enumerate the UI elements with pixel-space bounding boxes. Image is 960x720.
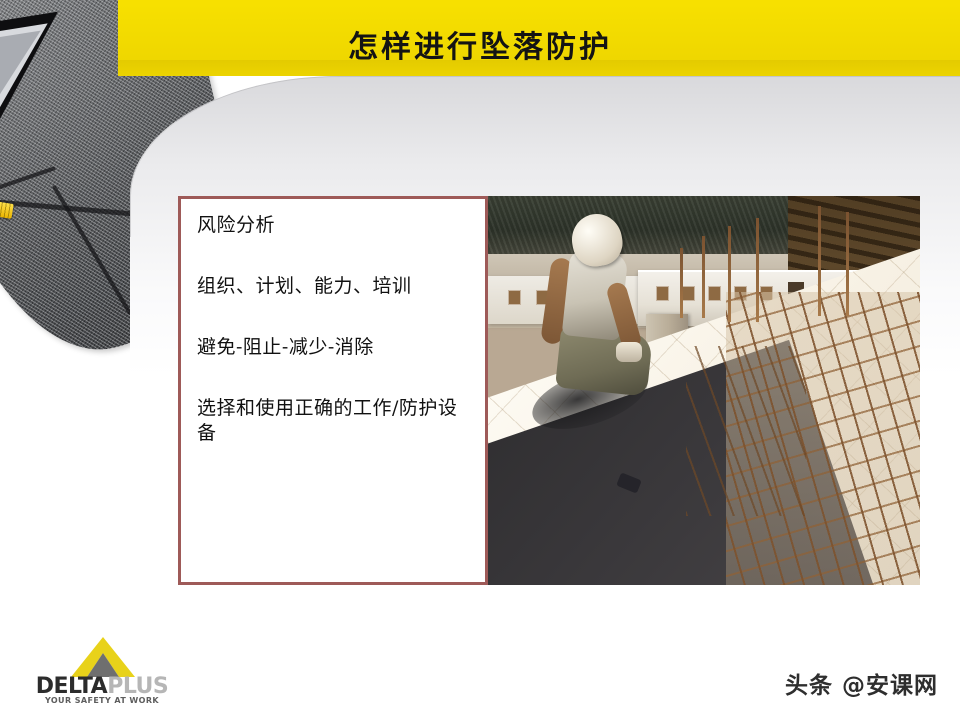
content-line: 避免-阻止-减少-消除 [197, 335, 471, 360]
slide-canvas: 怎样进行坠落防护 风险分析 组织、计划、能力、培训 避免-阻止-减少-消除 选择… [0, 0, 960, 720]
logo-tagline: YOUR SAFETY AT WORK [22, 696, 182, 705]
watermark: 头条 @安课网 [785, 666, 938, 700]
construction-site-photo [488, 196, 920, 585]
delta-plus-logo: DELTAPLUS YOUR SAFETY AT WORK [22, 636, 182, 708]
logo-wordmark: DELTAPLUS [22, 676, 182, 698]
content-line: 选择和使用正确的工作/防护设备 [197, 396, 471, 446]
delta-triangle-logo-icon [70, 636, 136, 678]
content-text-box: 风险分析 组织、计划、能力、培训 避免-阻止-减少-消除 选择和使用正确的工作/… [178, 196, 488, 585]
content-line: 组织、计划、能力、培训 [197, 274, 471, 299]
content-line: 风险分析 [197, 213, 471, 238]
page-title: 怎样进行坠落防护 [0, 22, 960, 66]
photo-rebar-grid [686, 346, 806, 516]
photo-worker-glove [616, 342, 642, 362]
